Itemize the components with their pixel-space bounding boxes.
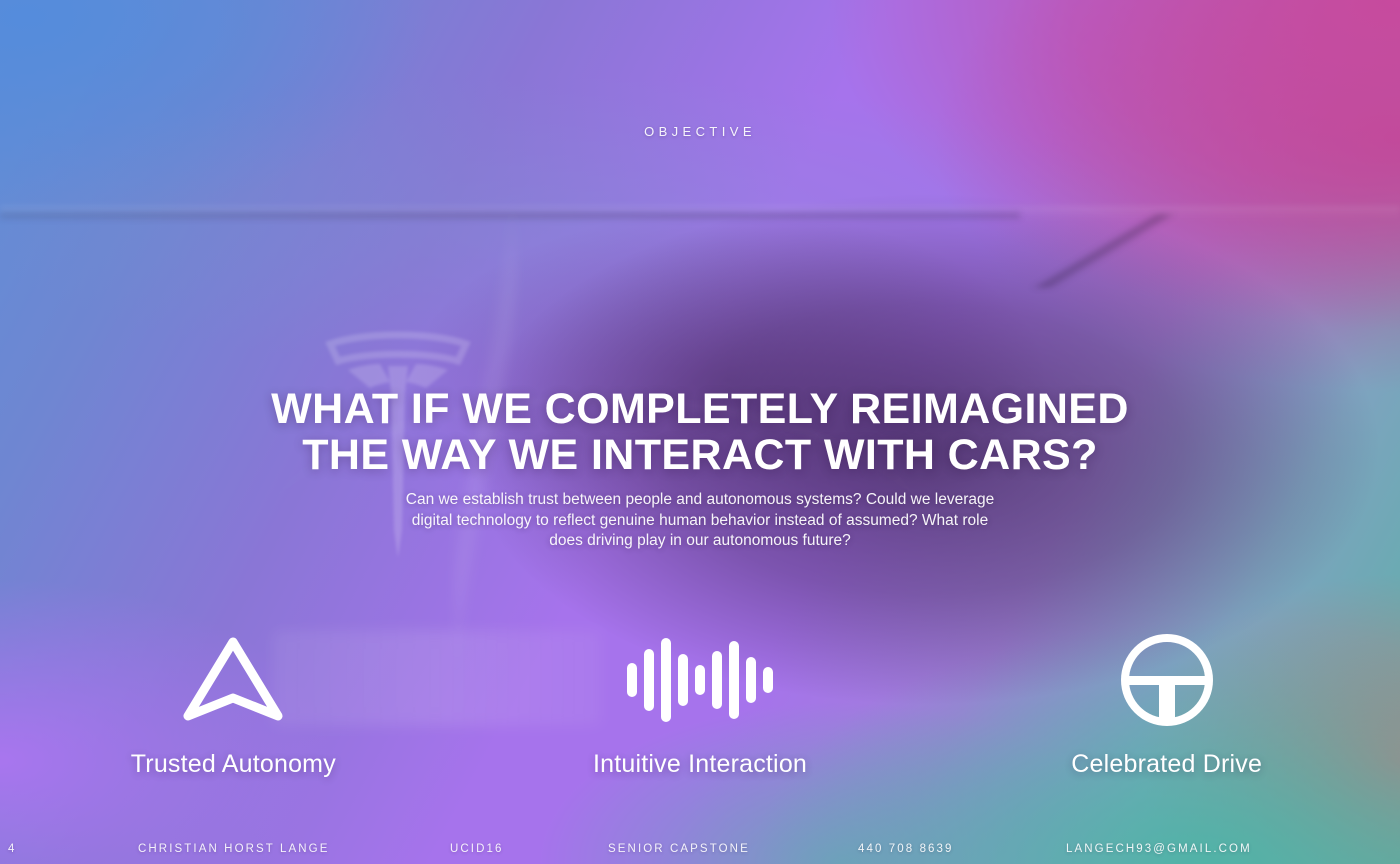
- pillar-label: Celebrated Drive: [1071, 750, 1262, 779]
- waveform-bar: [695, 665, 705, 695]
- pillar-label: Trusted Autonomy: [131, 750, 336, 779]
- waveform-bar: [712, 651, 722, 709]
- footer-phone: 440 708 8639: [858, 843, 954, 855]
- waveform-bar: [729, 641, 739, 719]
- pillar-celebrated-drive: Celebrated Drive: [933, 628, 1400, 779]
- footer-author-name: CHRISTIAN HORST LANGE: [138, 843, 330, 855]
- headline-line-2: THE WAY WE INTERACT WITH CARS?: [0, 432, 1400, 478]
- section-eyebrow: OBJECTIVE: [0, 124, 1400, 139]
- feature-pillars: Trusted Autonomy Intuitive Interaction: [0, 628, 1400, 779]
- footer-student-id: UCID16: [450, 843, 504, 855]
- waveform-bars: [627, 634, 773, 726]
- page-title: WHAT IF WE COMPLETELY REIMAGINED THE WAY…: [0, 386, 1400, 478]
- pillar-trusted-autonomy: Trusted Autonomy: [0, 628, 467, 779]
- audio-waveform-icon: [627, 628, 773, 732]
- waveform-bar: [678, 654, 688, 706]
- waveform-bar: [661, 638, 671, 722]
- steering-wheel-icon: [1119, 628, 1215, 732]
- waveform-bar: [627, 663, 637, 697]
- footer-page-number: 4: [8, 843, 17, 855]
- footer-course: SENIOR CAPSTONE: [608, 843, 750, 855]
- subcopy-paragraph: Can we establish trust between people an…: [405, 490, 995, 552]
- pillar-intuitive-interaction: Intuitive Interaction: [467, 628, 934, 779]
- footer-email: LANGECH93@GMAIL.COM: [1066, 843, 1252, 855]
- pillar-label: Intuitive Interaction: [593, 750, 807, 779]
- slide-content: OBJECTIVE WHAT IF WE COMPLETELY REIMAGIN…: [0, 0, 1400, 864]
- waveform-bar: [644, 649, 654, 711]
- waveform-bar: [763, 667, 773, 693]
- slide-footer: 4 CHRISTIAN HORST LANGE UCID16 SENIOR CA…: [0, 834, 1400, 864]
- navigation-arrow-icon: [181, 628, 285, 732]
- headline-line-1: WHAT IF WE COMPLETELY REIMAGINED: [271, 385, 1129, 433]
- waveform-bar: [746, 657, 756, 703]
